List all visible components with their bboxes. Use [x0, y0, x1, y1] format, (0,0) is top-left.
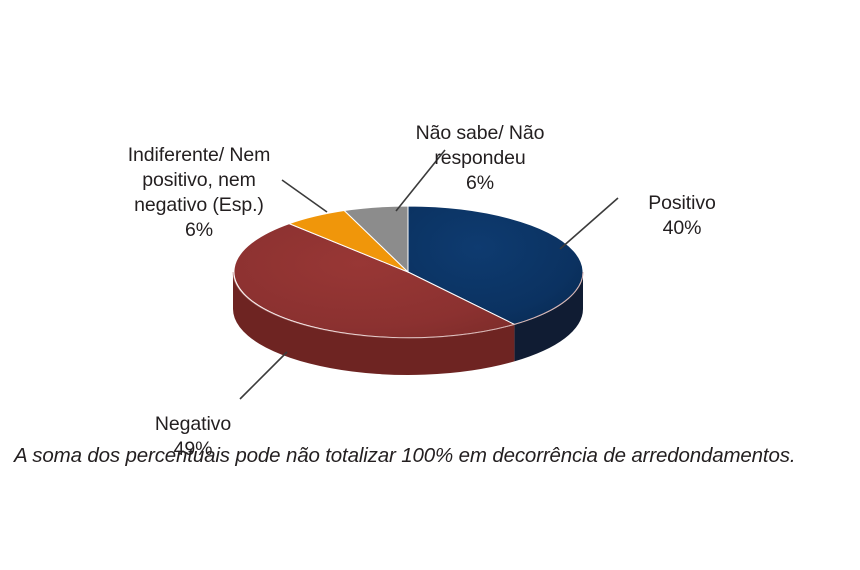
chart-footnote: A soma dos percentuais pode não totaliza…	[14, 444, 854, 468]
slice-label-nao-sabe-percent: 6%	[390, 171, 570, 196]
slice-label-nao-sabe-text: Não sabe/ Não respondeu	[416, 122, 545, 169]
slice-label-indiferente-percent: 6%	[104, 218, 294, 243]
slice-label-indiferente: Indiferente/ Nem positivo, nem negativo …	[104, 118, 294, 268]
slice-label-negativo-text: Negativo	[155, 413, 231, 435]
slice-label-positivo-text: Positivo	[648, 192, 715, 214]
slice-label-positivo-percent: 40%	[622, 216, 742, 241]
slice-label-nao-sabe: Não sabe/ Não respondeu 6%	[390, 96, 570, 221]
pie-chart-figure: Indiferente/ Nem positivo, nem negativo …	[0, 0, 860, 570]
slice-label-negativo: Negativo 49%	[128, 387, 258, 487]
slice-label-indiferente-text: Indiferente/ Nem positivo, nem negativo …	[128, 144, 271, 216]
slice-label-positivo: Positivo 40%	[622, 166, 742, 266]
